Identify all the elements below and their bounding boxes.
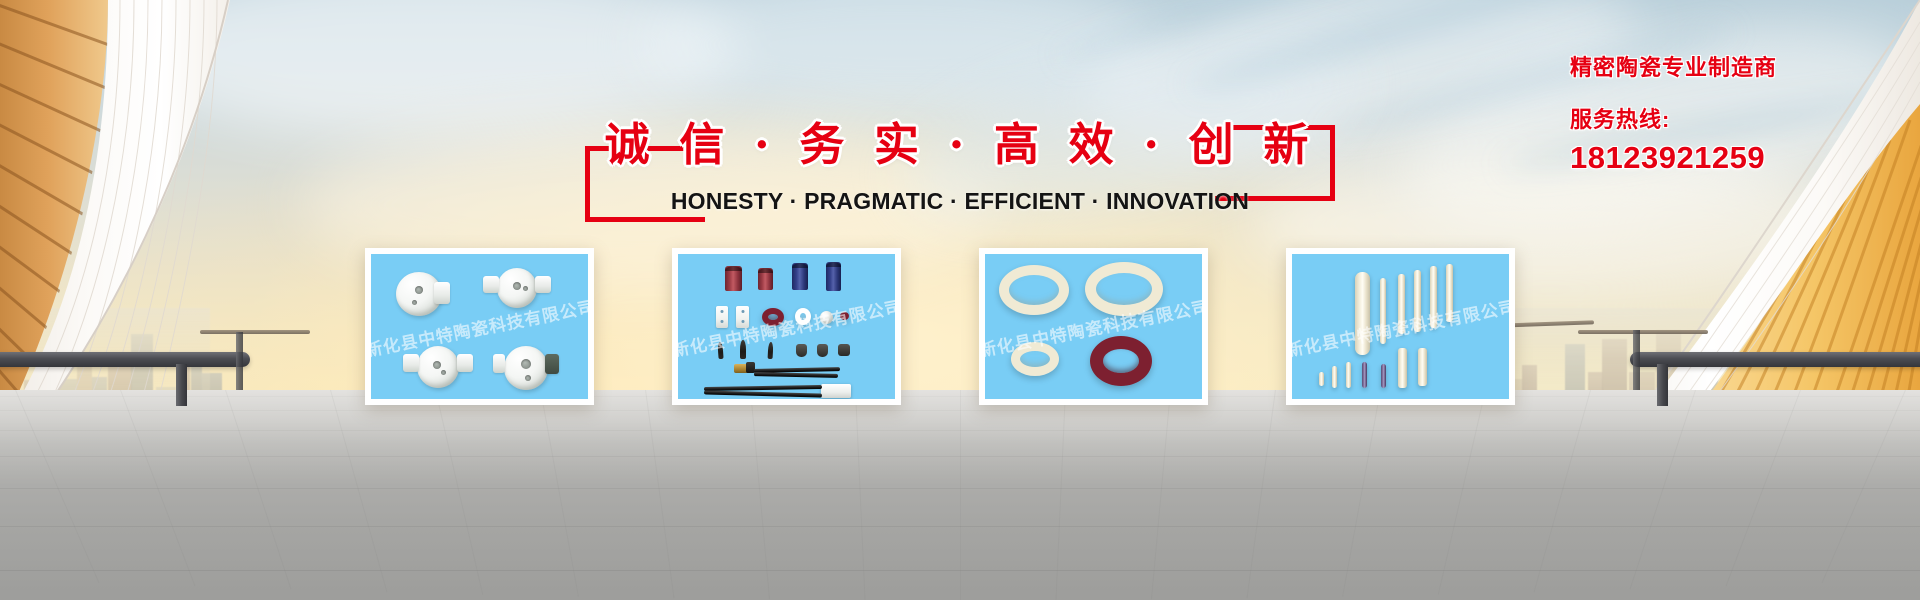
panel-reflection — [365, 405, 594, 497]
product-panel-lamp-holders[interactable]: 新化县中特陶瓷科技有限公司 — [365, 248, 594, 405]
panel-reflection — [672, 405, 901, 497]
product-panel-row: 新化县中特陶瓷科技有限公司 — [0, 0, 1920, 600]
product-panel-tubes-wires[interactable]: 新化县中特陶瓷科技有限公司 — [672, 248, 901, 405]
product-panel-ceramic-rings[interactable]: 新化县中特陶瓷科技有限公司 — [979, 248, 1208, 405]
product-panel-ceramic-rods[interactable]: 新化县中特陶瓷科技有限公司 — [1286, 248, 1515, 405]
promo-banner: 诚 信 · 务 实 · 高 效 · 创 新 HONESTY · PRAGMATI… — [0, 0, 1920, 600]
panel-reflection — [979, 405, 1208, 497]
panel-reflection — [1286, 405, 1515, 497]
panel-watermark: 新化县中特陶瓷科技有限公司 — [678, 292, 895, 361]
